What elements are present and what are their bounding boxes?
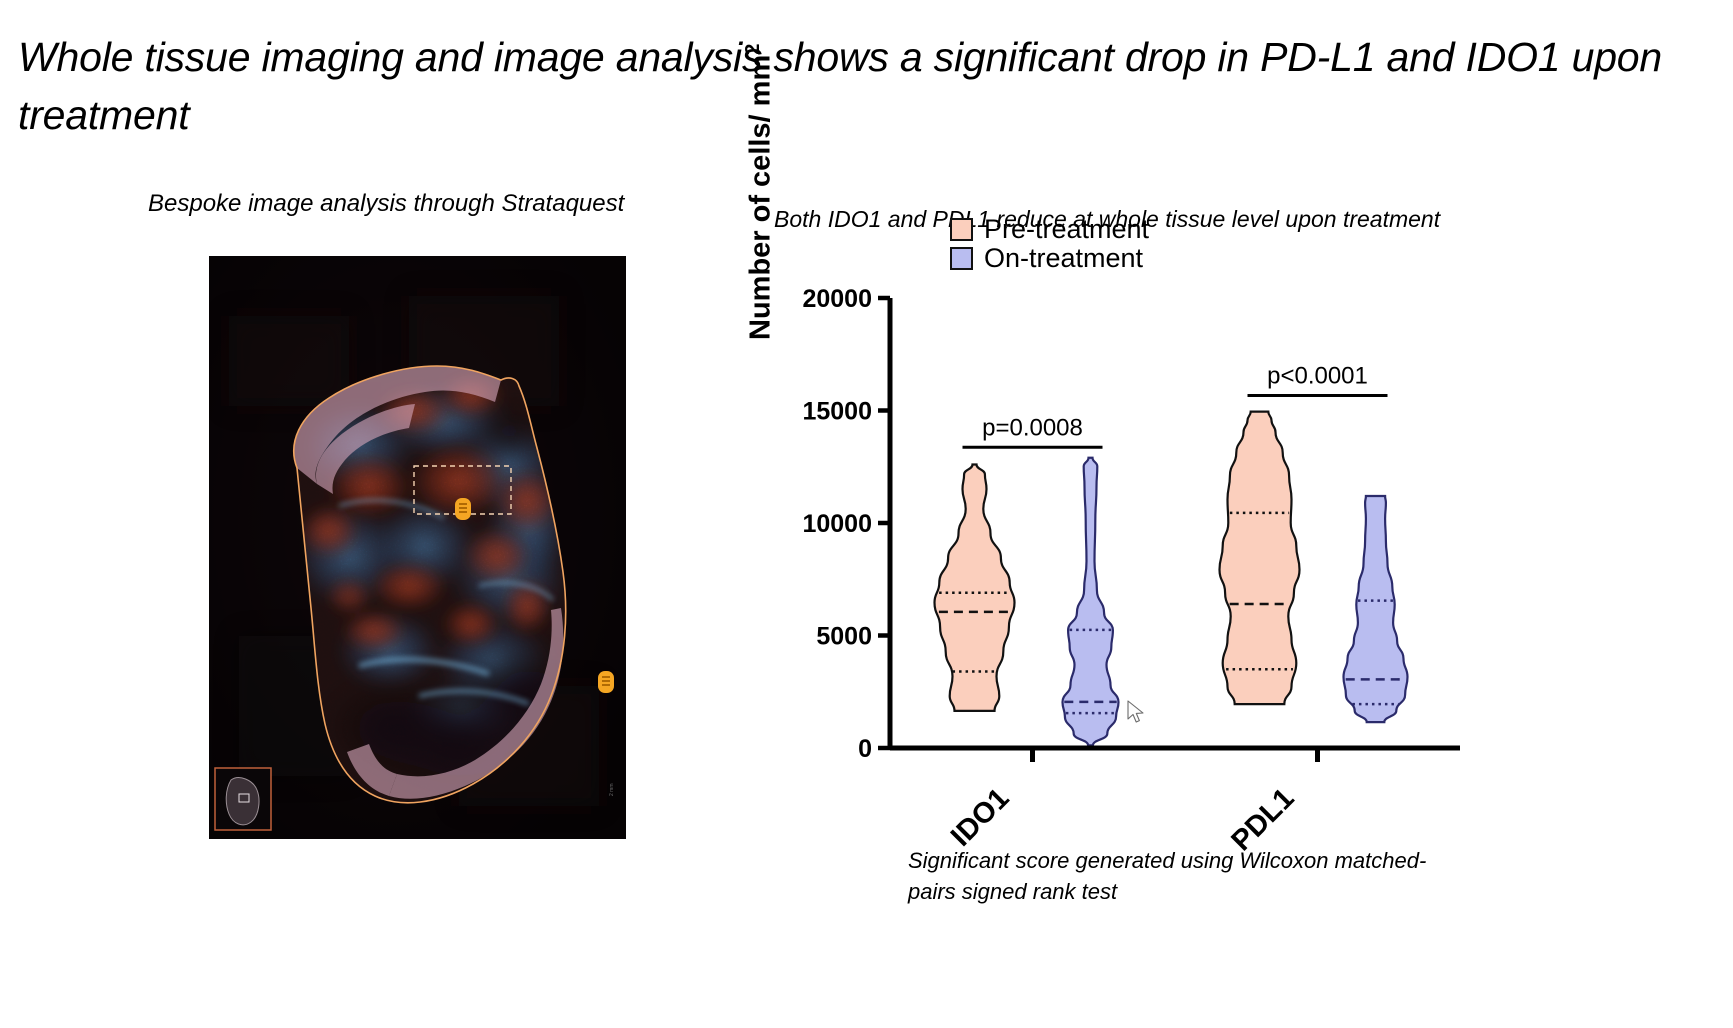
chart-caption: Both IDO1 and PDL1 reduce at whole tissu… xyxy=(774,206,1733,233)
violin-groups xyxy=(935,412,1408,746)
left-panel-caption: Bespoke image analysis through Strataque… xyxy=(148,190,748,218)
legend-swatch-on-treatment xyxy=(950,247,973,270)
x-category-label-ido1: IDO1 xyxy=(945,782,1015,852)
y-tick-label: 20000 xyxy=(802,285,872,313)
p-value-label-pdl1: p<0.0001 xyxy=(1267,363,1368,390)
right-panel: Both IDO1 and PDL1 reduce at whole tissu… xyxy=(760,190,1733,980)
y-axis-title: Number of cells/ mm2 xyxy=(742,10,778,340)
y-tick-label: 15000 xyxy=(802,398,872,426)
p-value-label-ido1: p=0.0008 xyxy=(982,414,1083,441)
legend-item-pre-treatment[interactable]: Pre-treatment xyxy=(950,216,1149,243)
annotation-marker-1[interactable] xyxy=(455,498,471,520)
violin-plot: 05000100001500020000 p=0.0008p<0.0001 ID… xyxy=(800,286,1500,866)
significance-annotations: p=0.0008p<0.0001 xyxy=(963,363,1388,448)
y-tick-label: 5000 xyxy=(816,623,872,651)
violin-body xyxy=(935,465,1015,711)
violin-pdl1-on-treatment xyxy=(1344,496,1408,722)
left-panel: Bespoke image analysis through Strataque… xyxy=(0,190,760,890)
legend-label-pre-treatment: Pre-treatment xyxy=(984,216,1149,243)
scalebar-label: 2 mm xyxy=(609,784,615,797)
violin-body xyxy=(1344,496,1408,722)
y-axis-title-text: Number of cells/ mm xyxy=(745,55,777,340)
whole-tissue-fluorescence-image: 2 mm xyxy=(209,256,626,839)
annotation-marker-2[interactable] xyxy=(598,671,614,693)
y-tick-label: 10000 xyxy=(802,510,872,538)
roi-navigator-thumbnail[interactable] xyxy=(215,768,271,830)
y-tick-label: 0 xyxy=(858,735,872,763)
violin-ido1-pre-treatment xyxy=(935,465,1015,711)
legend-swatch-pre-treatment xyxy=(950,218,973,241)
page-title: Whole tissue imaging and image analysis … xyxy=(18,28,1698,144)
legend-label-on-treatment: On-treatment xyxy=(984,245,1143,272)
y-axis-ticks: 05000100001500020000 xyxy=(802,285,890,763)
violin-pdl1-pre-treatment xyxy=(1220,412,1300,705)
violin-body xyxy=(1220,412,1300,705)
legend-item-on-treatment[interactable]: On-treatment xyxy=(950,245,1149,272)
chart-legend: Pre-treatment On-treatment xyxy=(950,216,1149,272)
statistics-note: Significant score generated using Wilcox… xyxy=(908,845,1468,907)
y-axis-title-superscript: 2 xyxy=(742,44,764,55)
violin-ido1-on-treatment xyxy=(1063,458,1119,746)
mouse-pointer xyxy=(1127,700,1147,726)
